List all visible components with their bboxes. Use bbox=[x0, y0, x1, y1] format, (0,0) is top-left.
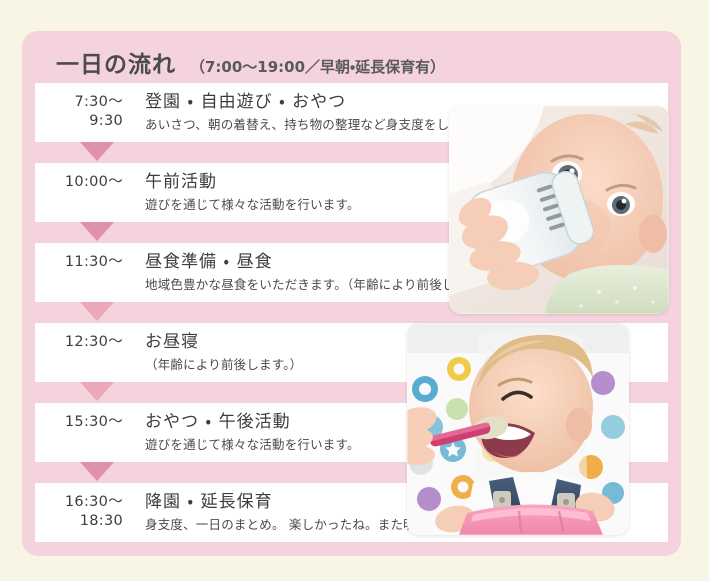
baby-drinking-bottle-illustration bbox=[449, 106, 669, 314]
time-column: 16:30〜 18:30 bbox=[35, 492, 123, 531]
time-column: 11:30〜 bbox=[35, 252, 123, 272]
baby-being-fed-photo bbox=[407, 323, 629, 535]
down-arrow-icon bbox=[80, 462, 114, 481]
down-arrow-icon bbox=[80, 382, 114, 401]
page-subtitle: （7:00〜19:00／早朝・延長保育有） bbox=[190, 56, 445, 77]
time-start: 7:30〜 bbox=[45, 92, 123, 112]
schedule-page: 一日の流れ （7:00〜19:00／早朝・延長保育有） 7:30〜 9:30 登… bbox=[0, 0, 709, 581]
page-title: 一日の流れ bbox=[56, 45, 176, 79]
baby-being-fed-illustration bbox=[407, 323, 629, 535]
time-end: 9:30 bbox=[45, 111, 123, 131]
card-header: 一日の流れ （7:00〜19:00／早朝・延長保育有） bbox=[56, 45, 445, 79]
time-start: 16:30〜 bbox=[45, 492, 123, 512]
down-arrow-icon bbox=[80, 142, 114, 161]
time-column: 7:30〜 9:30 bbox=[35, 92, 123, 131]
baby-drinking-bottle-photo bbox=[449, 106, 669, 314]
down-arrow-icon bbox=[80, 302, 114, 321]
time-start: 15:30〜 bbox=[45, 412, 123, 432]
time-start: 10:00〜 bbox=[45, 172, 123, 192]
time-column: 10:00〜 bbox=[35, 172, 123, 192]
down-arrow-icon bbox=[80, 222, 114, 241]
time-column: 12:30〜 bbox=[35, 332, 123, 352]
time-column: 15:30〜 bbox=[35, 412, 123, 432]
time-start: 11:30〜 bbox=[45, 252, 123, 272]
time-end: 18:30 bbox=[45, 511, 123, 531]
time-start: 12:30〜 bbox=[45, 332, 123, 352]
